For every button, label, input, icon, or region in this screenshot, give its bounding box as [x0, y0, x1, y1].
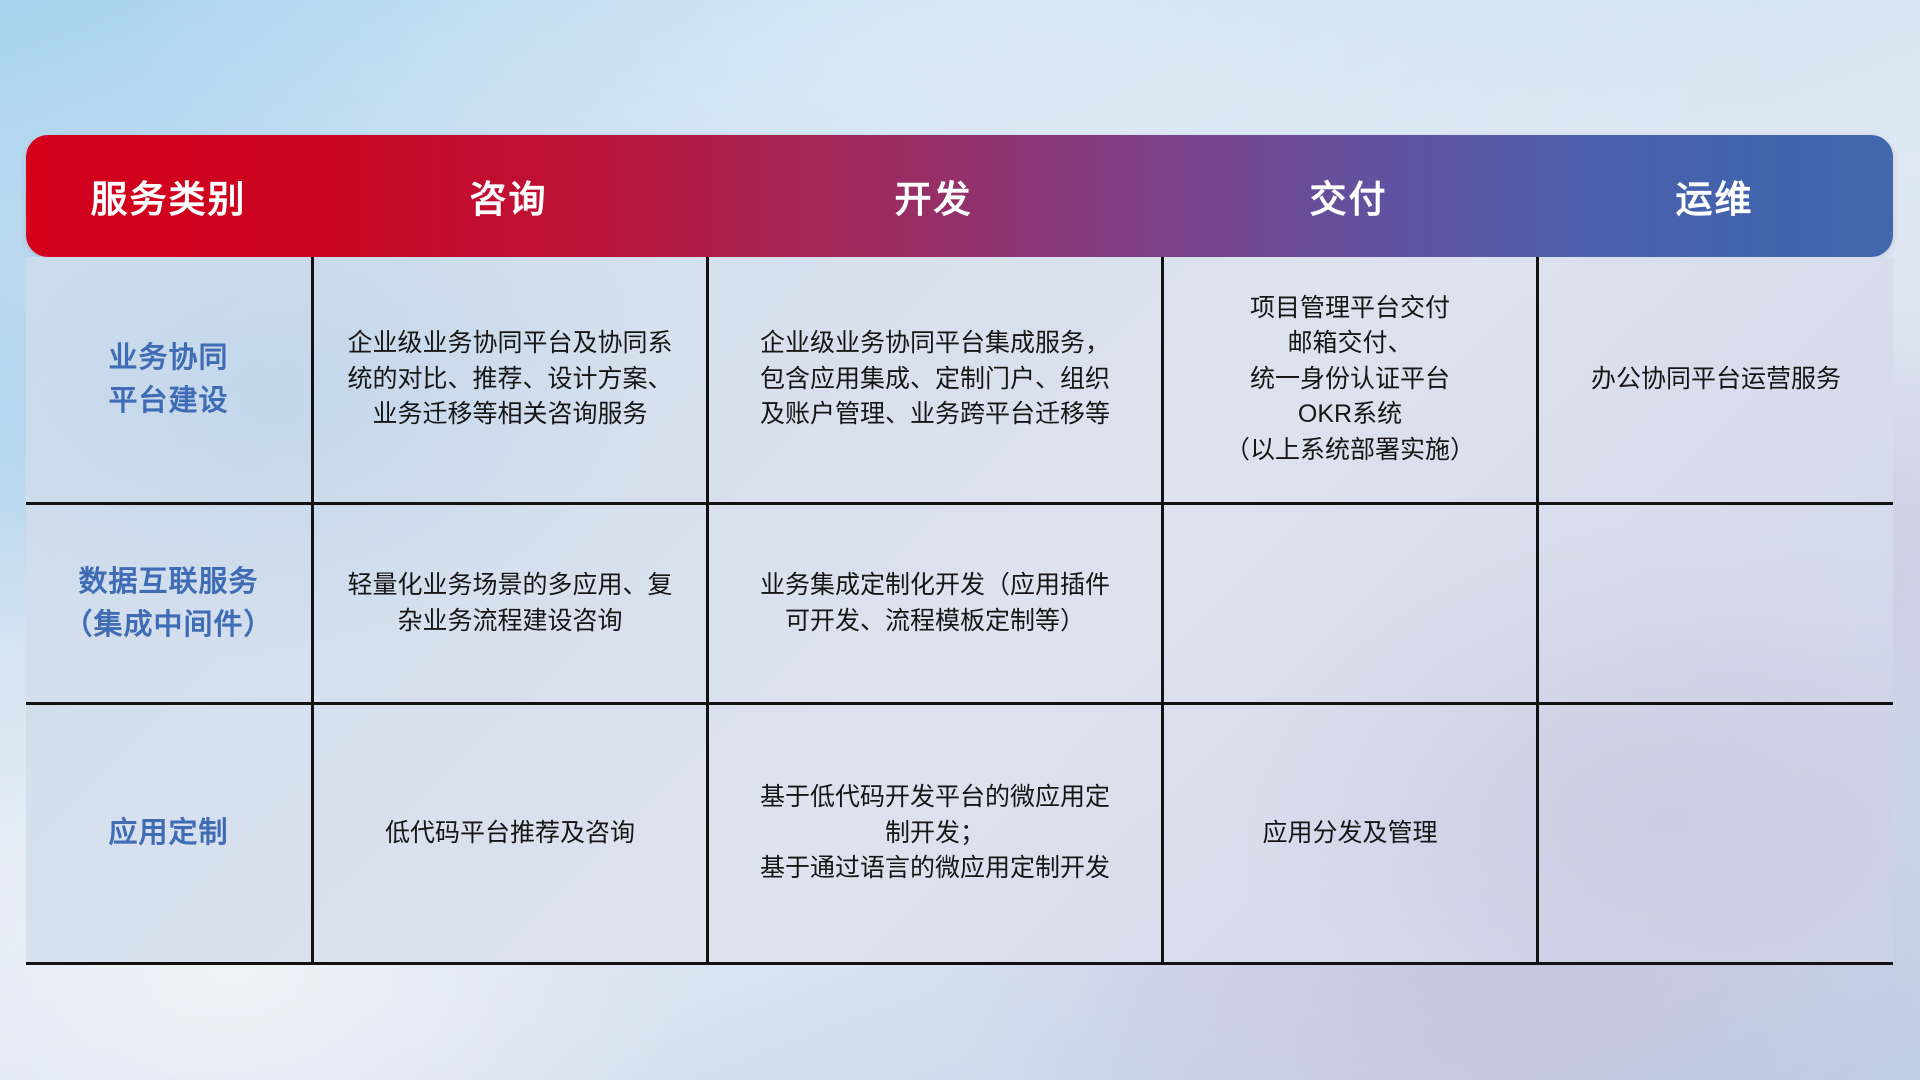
cell-operations — [1536, 705, 1893, 962]
table-body: 业务协同 平台建设 企业级业务协同平台及协同系 统的对比、推荐、设计方案、 业务… — [26, 257, 1893, 965]
column-header-delivery: 交付 — [1161, 169, 1536, 223]
column-header-consulting: 咨询 — [311, 169, 706, 223]
row-category-label: 应用定制 — [26, 705, 311, 962]
table-header-row: 服务类别 咨询 开发 交付 运维 — [26, 135, 1893, 257]
cell-development: 业务集成定制化开发（应用插件 可开发、流程模板定制等） — [706, 505, 1161, 702]
cell-development: 企业级业务协同平台集成服务， 包含应用集成、定制门户、组织 及账户管理、业务跨平… — [706, 257, 1161, 502]
cell-operations — [1536, 505, 1893, 702]
row-category-label: 业务协同 平台建设 — [26, 257, 311, 502]
cell-development: 基于低代码开发平台的微应用定 制开发； 基于通过语言的微应用定制开发 — [706, 705, 1161, 962]
column-header-development: 开发 — [706, 169, 1161, 223]
column-header-category: 服务类别 — [26, 169, 311, 223]
cell-consulting: 企业级业务协同平台及协同系 统的对比、推荐、设计方案、 业务迁移等相关咨询服务 — [311, 257, 706, 502]
service-matrix-table: 服务类别 咨询 开发 交付 运维 业务协同 平台建设 企业级业务协同平台及协同系… — [26, 135, 1893, 965]
table-row: 应用定制 低代码平台推荐及咨询 基于低代码开发平台的微应用定 制开发； 基于通过… — [26, 702, 1893, 962]
table-row: 数据互联服务 （集成中间件） 轻量化业务场景的多应用、复 杂业务流程建设咨询 业… — [26, 502, 1893, 702]
row-category-label: 数据互联服务 （集成中间件） — [26, 505, 311, 702]
cell-delivery: 项目管理平台交付 邮箱交付、 统一身份认证平台 OKR系统 （以上系统部署实施） — [1161, 257, 1536, 502]
cell-consulting: 低代码平台推荐及咨询 — [311, 705, 706, 962]
cell-operations: 办公协同平台运营服务 — [1536, 257, 1893, 502]
table-row: 业务协同 平台建设 企业级业务协同平台及协同系 统的对比、推荐、设计方案、 业务… — [26, 257, 1893, 502]
cell-delivery: 应用分发及管理 — [1161, 705, 1536, 962]
column-header-operations: 运维 — [1536, 169, 1893, 223]
cell-consulting: 轻量化业务场景的多应用、复 杂业务流程建设咨询 — [311, 505, 706, 702]
cell-delivery — [1161, 505, 1536, 702]
